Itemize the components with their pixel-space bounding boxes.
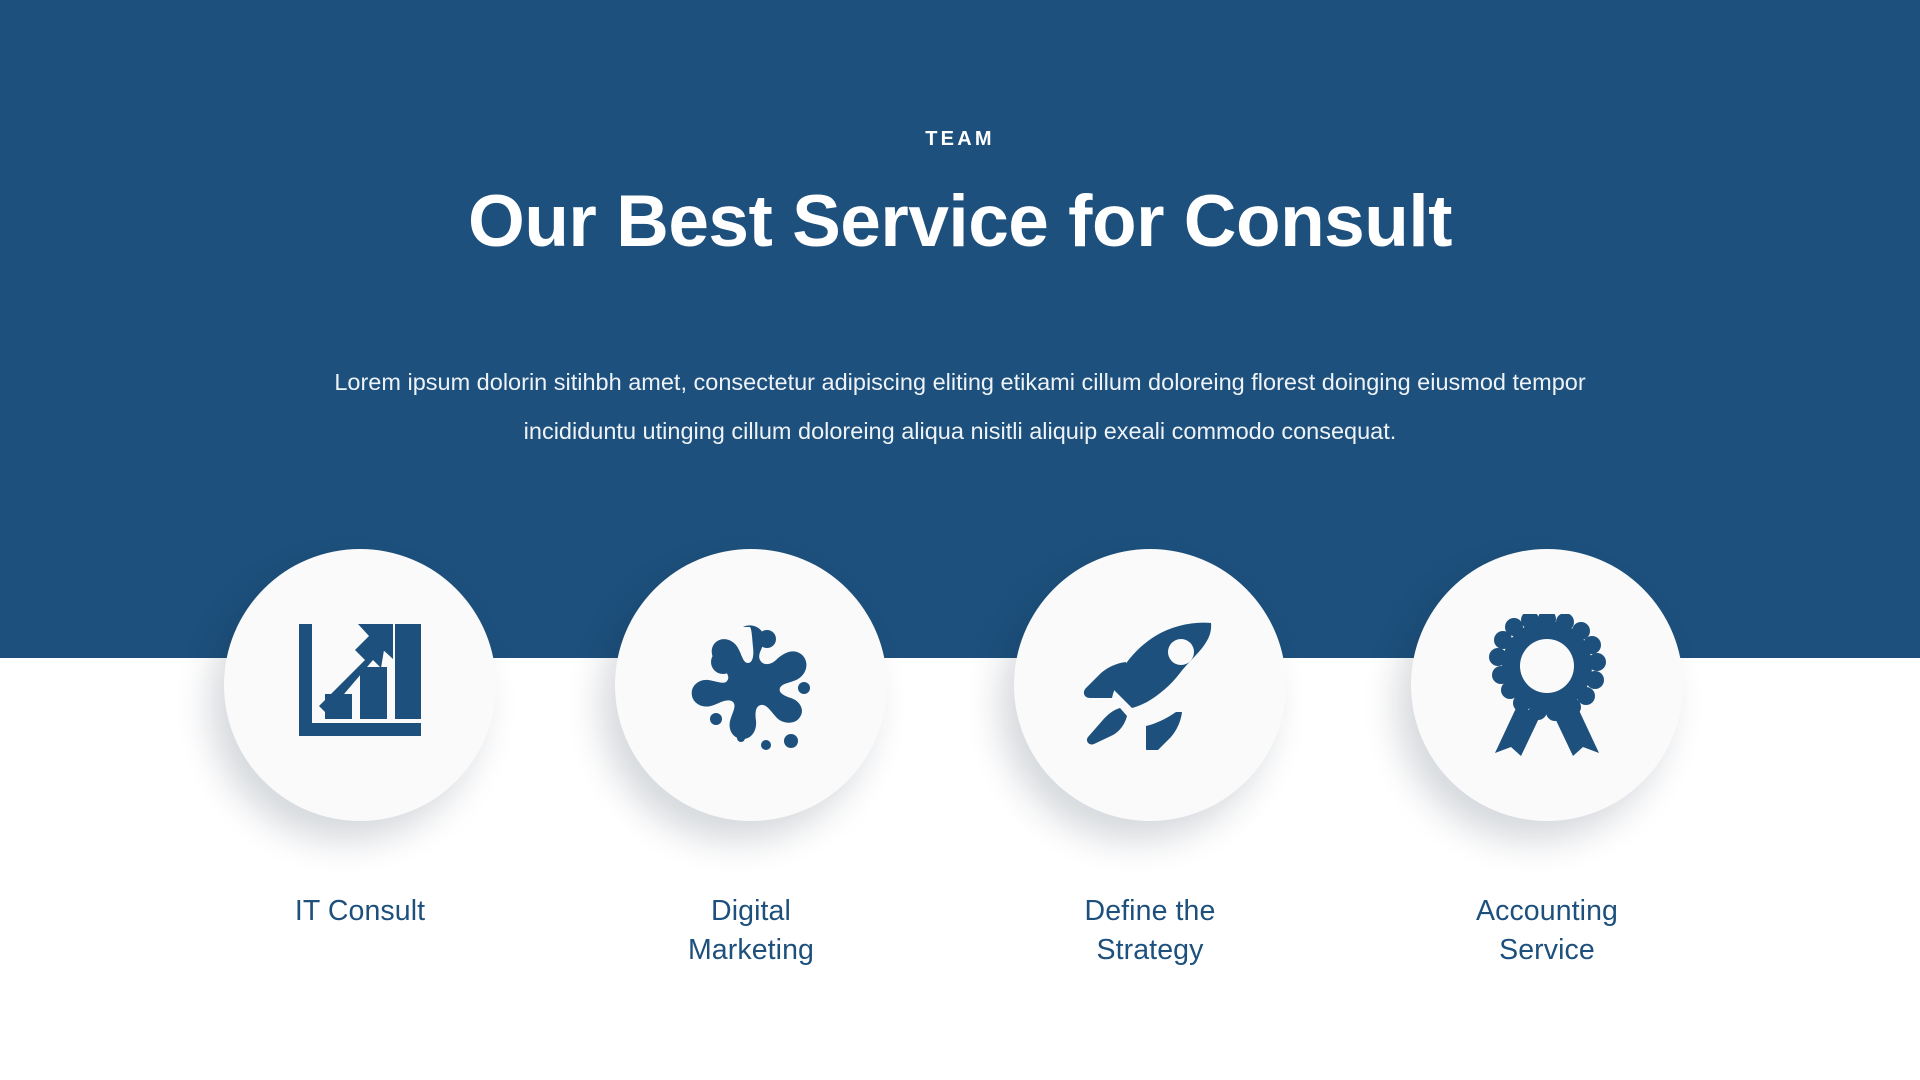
service-label: Define the Strategy	[1085, 892, 1216, 970]
service-label: Digital Marketing	[688, 892, 814, 970]
slide-canvas: TEAM Our Best Service for Consult Lorem …	[0, 0, 1920, 1080]
service-card-define-strategy[interactable]: Define the Strategy	[955, 549, 1345, 970]
bar-chart-growth-icon	[297, 622, 423, 748]
service-icon-circle[interactable]	[615, 549, 887, 821]
service-card-it-consult[interactable]: IT Consult	[165, 549, 555, 931]
rocket-icon	[1080, 620, 1220, 750]
service-card-accounting-service[interactable]: Accounting Service	[1352, 549, 1742, 970]
service-icon-circle[interactable]	[224, 549, 496, 821]
services-row: IT Consult Digital M	[0, 0, 1920, 1080]
award-rosette-icon	[1481, 614, 1613, 756]
service-icon-circle[interactable]	[1411, 549, 1683, 821]
ink-splatter-icon	[681, 615, 821, 755]
service-label: IT Consult	[295, 892, 425, 931]
service-icon-circle[interactable]	[1014, 549, 1286, 821]
service-label: Accounting Service	[1476, 892, 1618, 970]
service-card-digital-marketing[interactable]: Digital Marketing	[556, 549, 946, 970]
